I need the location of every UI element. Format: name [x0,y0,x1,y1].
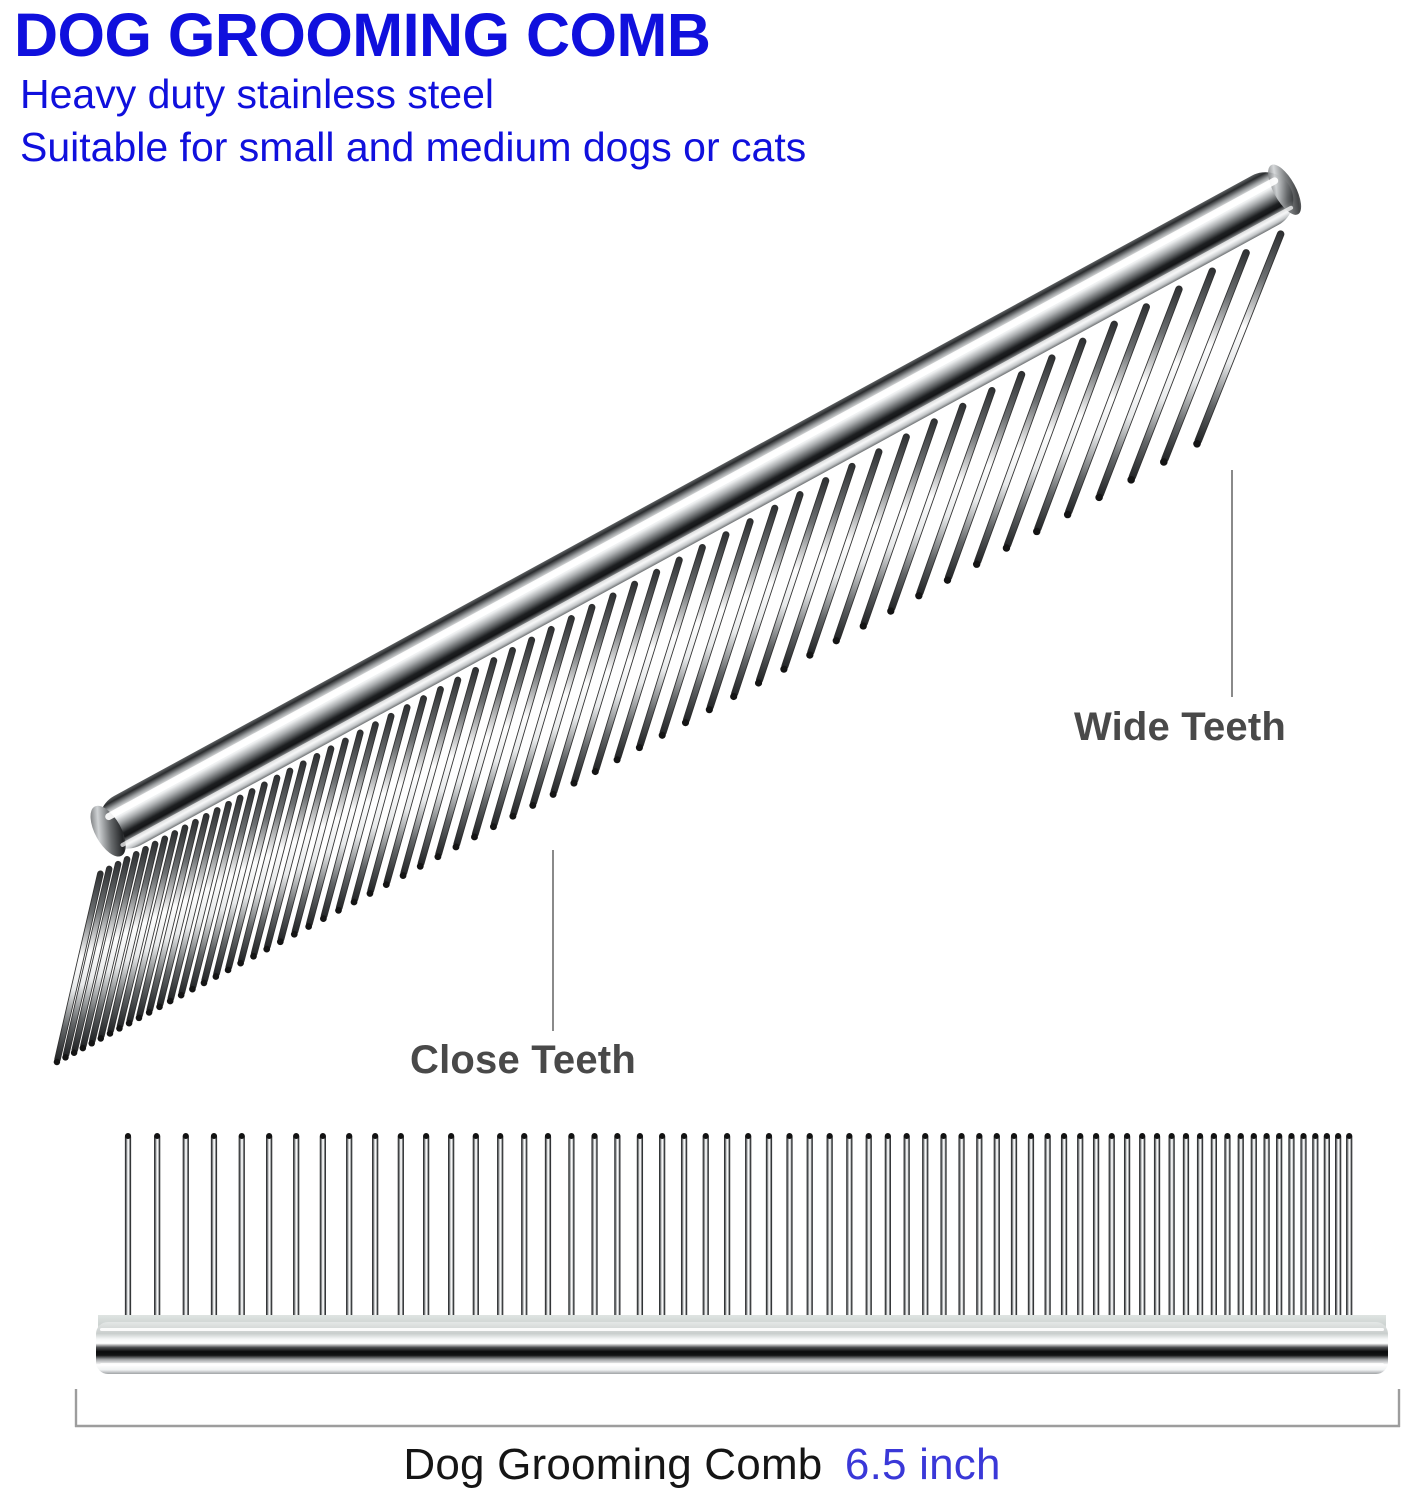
page-title: DOG GROOMING COMB [14,0,1394,66]
subtitle-line-2: Suitable for small and medium dogs or ca… [14,119,1394,172]
caption-product-size: 6.5 inch [827,1440,1001,1489]
headline-block: DOG GROOMING COMB Heavy duty stainless s… [14,0,1394,172]
leader-line-wide-teeth [1231,470,1233,697]
dimension-bracket [0,1385,1404,1433]
comb-teeth-group-hero [54,230,1285,1065]
callout-label-close-teeth: Close Teeth [410,1038,636,1083]
callout-label-wide-teeth: Wide Teeth [1074,705,1286,750]
leader-line-close-teeth [552,850,554,1031]
comb-teeth-group-profile [125,1133,1356,1329]
subtitle-line-1: Heavy duty stainless steel [14,66,1394,119]
product-caption: Dog Grooming Comb 6.5 inch [0,1440,1404,1490]
comb-side-profile-image [0,1110,1404,1390]
caption-product-name: Dog Grooming Comb [403,1440,822,1489]
